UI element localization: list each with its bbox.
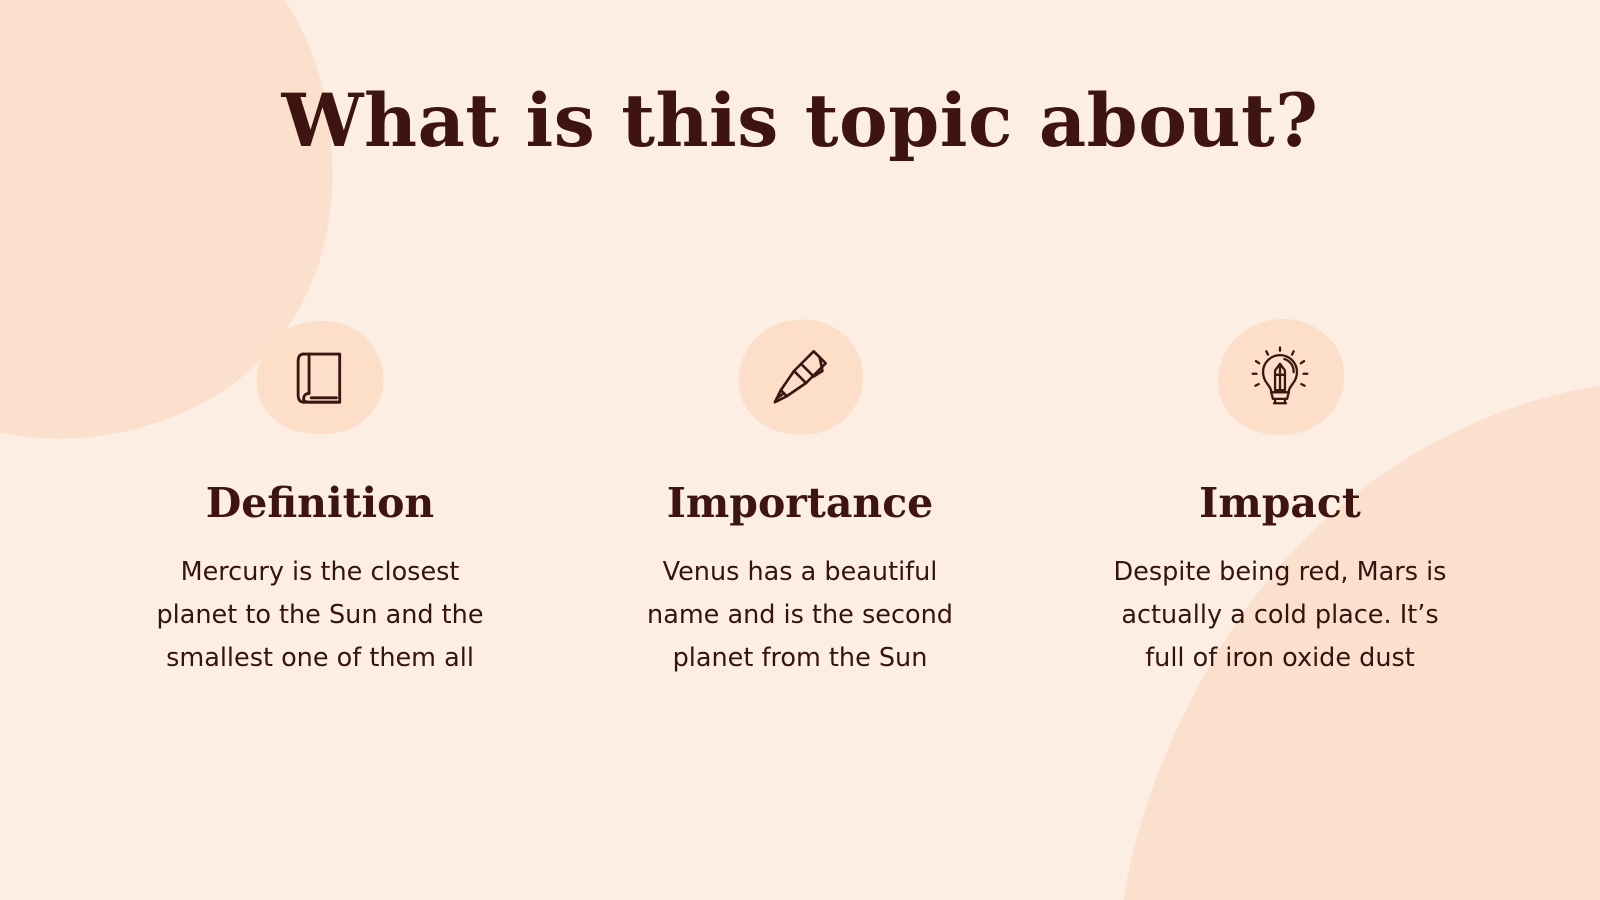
- feature-column-importance: Importance Venus has a beautiful name an…: [610, 318, 990, 680]
- column-body-text: Despite being red, Mars is actually a co…: [1110, 551, 1450, 679]
- column-body-text: Mercury is the closest planet to the Sun…: [150, 551, 490, 679]
- lightbulb-pencil-icon: [1245, 342, 1315, 412]
- column-heading: Definition: [206, 482, 435, 525]
- slide-canvas: What is this topic about?: [0, 0, 1600, 900]
- icon-container-importance: [735, 318, 865, 436]
- book-icon: [285, 342, 355, 412]
- feature-column-impact: Impact Despite being red, Mars is actual…: [1090, 318, 1470, 680]
- slide-title: What is this topic about?: [0, 78, 1600, 164]
- column-heading: Impact: [1199, 482, 1361, 525]
- icon-container-impact: [1215, 318, 1345, 436]
- fountain-pen-icon: [765, 342, 835, 412]
- feature-column-definition: Definition Mercury is the closest planet…: [130, 318, 510, 680]
- column-body-text: Venus has a beautiful name and is the se…: [630, 551, 970, 679]
- column-heading: Importance: [667, 482, 934, 525]
- feature-columns: Definition Mercury is the closest planet…: [130, 318, 1470, 680]
- icon-container-definition: [255, 318, 385, 436]
